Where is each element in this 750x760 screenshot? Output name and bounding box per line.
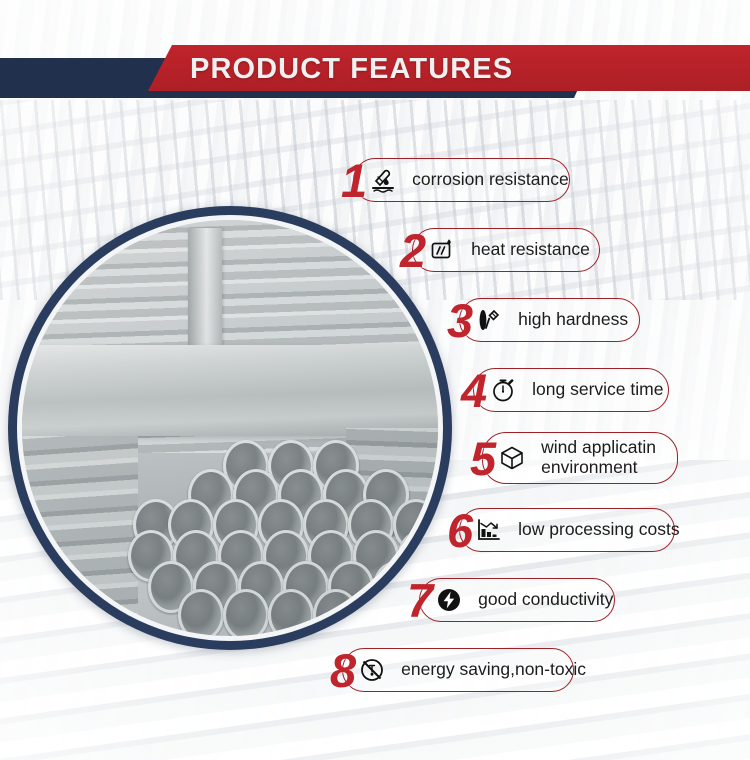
hardness-hammer-icon (474, 305, 504, 335)
feature-label-3: high hardness (518, 310, 628, 330)
feature-label-2: heat resistance (471, 240, 590, 260)
lightning-bolt-icon (434, 585, 464, 615)
feature-row-7[interactable]: 7 good conductivity (407, 572, 615, 628)
feature-pill-6[interactable]: low processing costs (459, 508, 675, 552)
feature-number-6: 6 (447, 507, 472, 554)
feature-row-1[interactable]: 1 corrosion resistance (341, 152, 570, 208)
feature-label-5-line1: wind applicatin (541, 437, 656, 457)
feature-number-5: 5 (470, 435, 495, 482)
feature-pill-2[interactable]: heat resistance (412, 228, 600, 272)
feature-label-5-line2: environment (541, 457, 637, 477)
non-toxic-crossed-icon (357, 655, 387, 685)
feature-row-6[interactable]: 6 low processing costs (447, 502, 675, 558)
feature-list: 1 corrosion resistance 2 (0, 0, 750, 760)
cube-icon (497, 443, 527, 473)
feature-number-1: 1 (341, 157, 366, 204)
feature-row-4[interactable]: 4 long service time (461, 362, 669, 418)
feature-pill-1[interactable]: corrosion resistance (353, 158, 570, 202)
feature-number-4: 4 (461, 367, 486, 414)
feature-label-5: wind applicatinenvironment (541, 438, 656, 477)
feature-row-5[interactable]: 5 wind applicatinenvironment (470, 430, 678, 486)
feature-label-4: long service time (532, 380, 663, 400)
feature-pill-4[interactable]: long service time (473, 368, 669, 412)
feature-pill-5[interactable]: wind applicatinenvironment (482, 432, 678, 484)
feature-number-8: 8 (330, 647, 355, 694)
feature-number-7: 7 (407, 577, 432, 624)
declining-bar-chart-icon (474, 515, 504, 545)
feature-row-2[interactable]: 2 heat resistance (400, 222, 600, 278)
feature-pill-8[interactable]: energy saving,non-toxic (342, 648, 574, 692)
feature-row-8[interactable]: 8 energy saving,non-toxic (330, 642, 574, 698)
corrosion-test-tube-icon (368, 165, 398, 195)
feature-pill-3[interactable]: high hardness (459, 298, 640, 342)
feature-label-8: energy saving,non-toxic (401, 660, 586, 680)
feature-number-2: 2 (400, 227, 425, 274)
feature-label-6: low processing costs (518, 520, 679, 540)
feature-label-1: corrosion resistance (412, 170, 569, 190)
feature-label-7: good conductivity (478, 590, 613, 610)
heat-thermometer-icon (427, 235, 457, 265)
product-features-poster: PRODUCT FEATURES 1 (0, 0, 750, 760)
feature-pill-7[interactable]: good conductivity (419, 578, 615, 622)
feature-row-3[interactable]: 3 high hardness (447, 292, 640, 348)
stopwatch-icon (488, 375, 518, 405)
feature-number-3: 3 (447, 297, 472, 344)
